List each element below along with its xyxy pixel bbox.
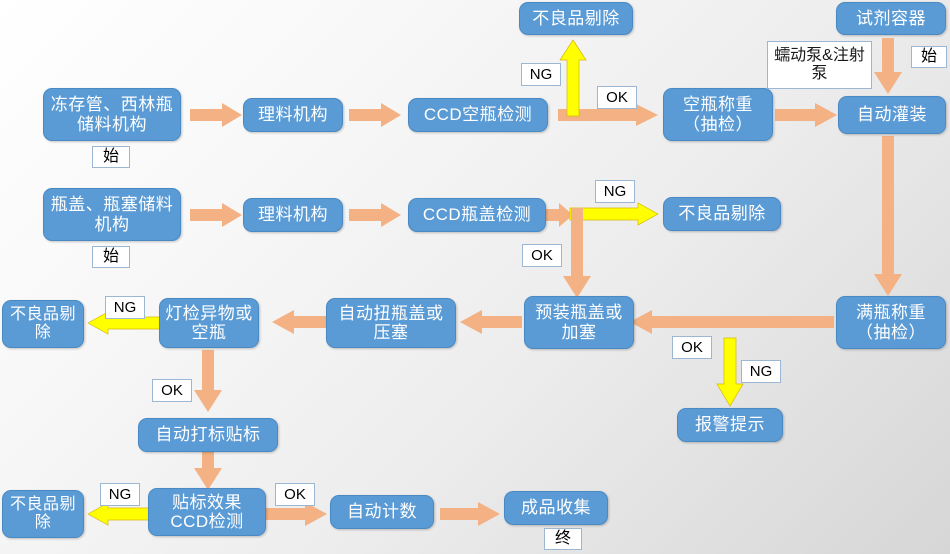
tag-start-3: 始	[911, 46, 947, 68]
tag-ok-fullweigh: OK	[672, 336, 712, 359]
node-auto-screwcap-or-press[interactable]: 自动扭瓶盖或压塞	[326, 298, 456, 348]
tag-ok-ccd-cap: OK	[522, 244, 562, 267]
tag-ok-ccd-empty: OK	[597, 86, 637, 109]
tag-ng-lampcheck: NG	[105, 296, 145, 319]
node-cryo-vial-storage[interactable]: 冻存管、西林瓶储料机构	[43, 88, 181, 141]
tag-ok-lampcheck: OK	[152, 379, 192, 402]
node-empty-bottle-weighing[interactable]: 空瓶称重（抽检）	[663, 88, 773, 141]
arrow-fullweigh-ng-to-alarm	[717, 338, 743, 406]
arrow-precap-to-screwcap	[460, 310, 522, 334]
node-reject-defective-3[interactable]: 不良品剔除	[2, 300, 84, 348]
node-alarm-prompt[interactable]: 报警提示	[677, 408, 783, 442]
arrow-feeder-to-ccd-empty	[349, 103, 401, 127]
arrow-counter-to-collection	[440, 502, 500, 526]
node-feeder-mechanism-1[interactable]: 理料机构	[243, 98, 343, 132]
arrow-lampcheck-ok-to-labeling	[194, 350, 222, 412]
arrow-storage-to-feeder	[190, 103, 242, 127]
node-ccd-cap-inspection[interactable]: CCD瓶盖检测	[408, 198, 546, 232]
tag-ok-labelccd: OK	[275, 483, 315, 506]
node-automatic-filling[interactable]: 自动灌装	[838, 96, 946, 134]
arrow-labeling-to-labelccd	[194, 448, 222, 490]
flowchart-canvas: 冻存管、西林瓶储料机构 理料机构 CCD空瓶检测 不良品剔除 空瓶称重（抽检） …	[0, 0, 950, 554]
node-cap-stopper-storage[interactable]: 瓶盖、瓶塞储料机构	[43, 188, 181, 241]
node-label-effect-ccd-inspection[interactable]: 贴标效果CCD检测	[148, 488, 266, 536]
tag-ng-fullweigh: NG	[741, 360, 781, 383]
tag-ng-ccd-empty: NG	[521, 63, 561, 86]
note-peristaltic-syringe-pump: 蠕动泵&注射泵	[767, 41, 872, 89]
node-auto-marking-labeling[interactable]: 自动打标贴标	[138, 418, 278, 452]
arrow-weigh-to-filling	[775, 103, 837, 127]
tag-end: 终	[544, 528, 582, 550]
tag-start-1: 始	[92, 146, 130, 168]
tag-ng-labelccd: NG	[100, 483, 140, 506]
node-reject-defective-1[interactable]: 不良品剔除	[519, 2, 633, 35]
arrow-feeder2-to-ccd-cap	[349, 203, 401, 227]
node-reject-defective-4[interactable]: 不良品剔除	[2, 490, 84, 538]
node-full-bottle-weighing[interactable]: 满瓶称重（抽检）	[836, 296, 946, 349]
arrow-reagent-to-filling	[874, 38, 902, 94]
tag-ng-ccd-cap: NG	[595, 180, 635, 203]
arrow-filling-to-fullweigh	[874, 136, 902, 296]
arrow-fullweigh-ok-to-precap	[630, 310, 834, 334]
node-reject-defective-2[interactable]: 不良品剔除	[663, 197, 781, 231]
node-feeder-mechanism-2[interactable]: 理料机构	[243, 198, 343, 232]
arrow-ccd-empty-ng-to-reject	[560, 40, 586, 116]
arrow-cap-storage-to-feeder	[190, 203, 242, 227]
node-lamp-inspection[interactable]: 灯检异物或空瓶	[159, 298, 259, 348]
node-ccd-empty-bottle-inspection[interactable]: CCD空瓶检测	[408, 98, 548, 132]
node-reagent-container[interactable]: 试剂容器	[836, 2, 946, 35]
node-finished-product-collection[interactable]: 成品收集	[504, 491, 608, 525]
node-precap-or-stopper[interactable]: 预装瓶盖或 加塞	[524, 296, 634, 349]
node-automatic-counting[interactable]: 自动计数	[330, 495, 434, 529]
arrow-ccd-cap-ok-to-precap	[563, 208, 591, 298]
arrow-screwcap-to-lampcheck	[272, 310, 334, 334]
tag-start-2: 始	[92, 246, 130, 268]
